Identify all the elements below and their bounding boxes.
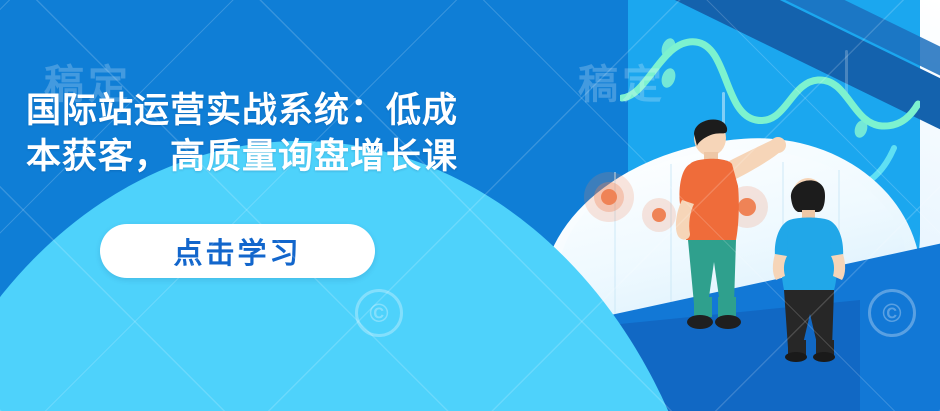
- course-promo-banner: 国际站运营实战系统：低成 本获客，高质量询盘增长课 点击学习 稿定 稿定 © ©: [0, 0, 940, 411]
- background-artwork: [0, 0, 940, 411]
- map-dot-1: [601, 189, 617, 205]
- click-to-learn-label: 点击学习: [173, 230, 301, 272]
- click-to-learn-button[interactable]: 点击学习: [100, 224, 375, 278]
- figure-right-blue-shirt: [758, 172, 868, 362]
- banner-headline: 国际站运营实战系统：低成 本获客，高质量询盘增长课: [26, 88, 626, 180]
